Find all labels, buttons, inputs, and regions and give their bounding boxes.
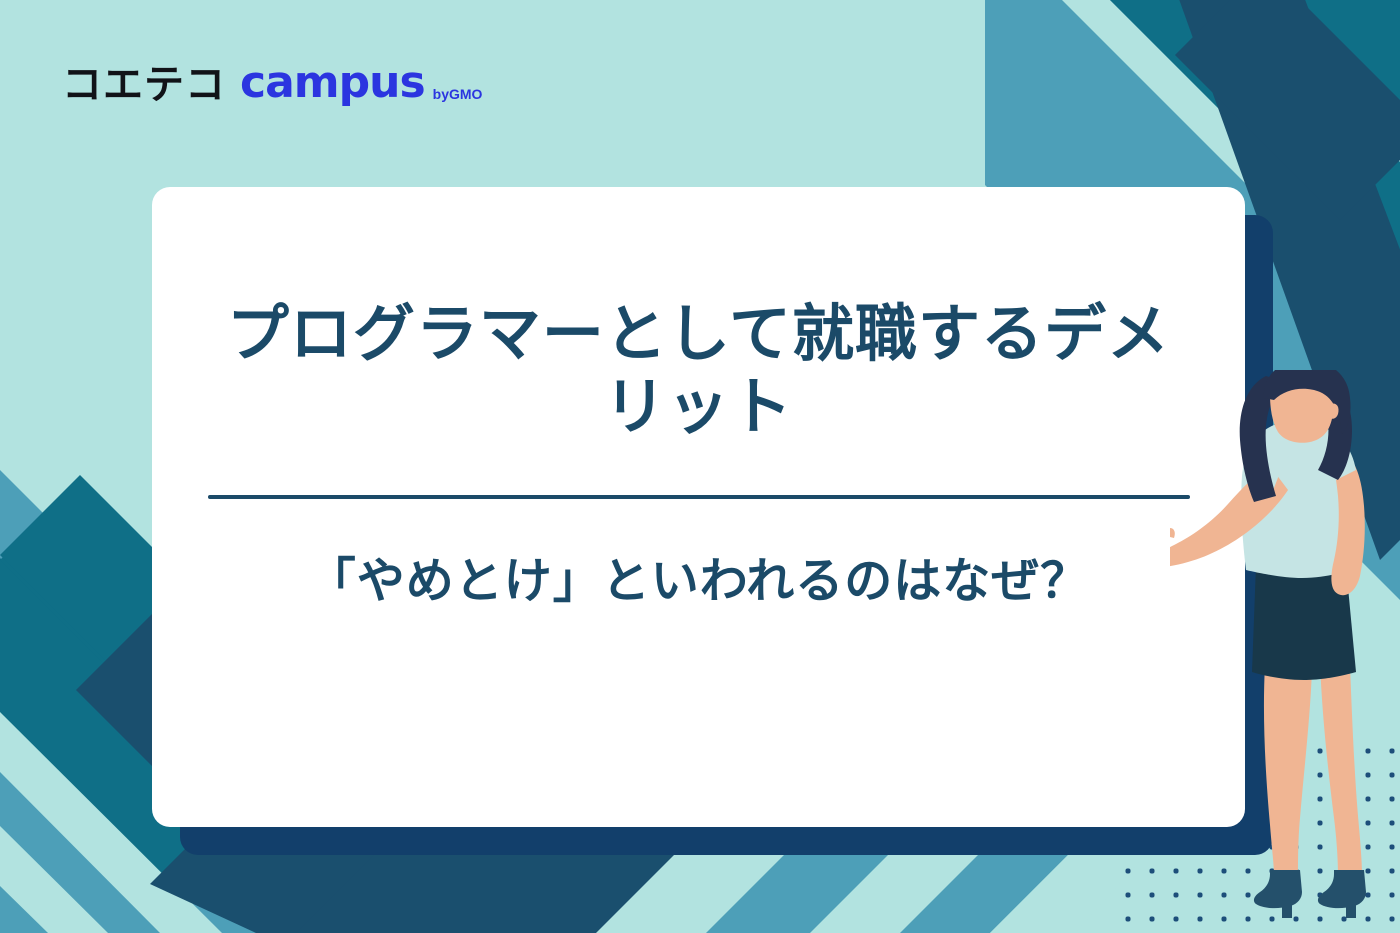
logo-bygmo-text: byGMO bbox=[433, 87, 483, 105]
logo-japanese-text: コエテコ bbox=[62, 65, 226, 105]
page-subtitle: 「やめとけ」といわれるのはなぜ？ bbox=[199, 551, 1199, 611]
standing-woman-illustration bbox=[1170, 370, 1400, 933]
logo-campus-text: campus bbox=[240, 61, 425, 105]
page-title: プログラマーとして就職するデメリット bbox=[199, 297, 1199, 443]
legs bbox=[1264, 662, 1362, 875]
title-card: プログラマーとして就職するデメリット 「やめとけ」といわれるのはなぜ？ bbox=[152, 187, 1245, 827]
woman-svg bbox=[1170, 370, 1400, 933]
brand-logo[interactable]: コエテコ campus byGMO bbox=[62, 57, 482, 105]
thumb-left bbox=[1170, 528, 1175, 538]
shoes bbox=[1254, 870, 1366, 918]
poster-canvas: コエテコ campus byGMO プログラマーとして就職するデメリット 「やめ… bbox=[0, 0, 1400, 933]
title-divider bbox=[208, 495, 1190, 499]
